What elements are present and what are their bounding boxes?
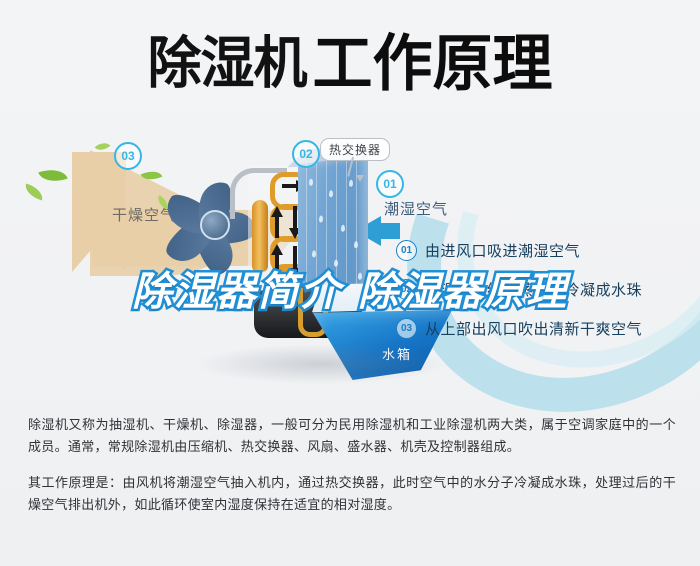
accumulator-cylinder xyxy=(252,200,268,272)
marker-02: 02 xyxy=(292,140,320,168)
infographic-page: 除湿机 工作原理 干燥空气 xyxy=(0,0,700,566)
callout-tip-icon xyxy=(356,175,364,182)
flow-arrow-stem xyxy=(282,184,296,188)
steps-list: 01 由进风口吸进潮湿空气 02 潮湿空气经过蒸发器冷凝成水珠 03 从上部出风… xyxy=(396,240,696,357)
dehumidifier-unit: 水箱 xyxy=(246,142,386,317)
paragraph-1: 除湿机又称为抽湿机、干燥机、除湿器，一般可分为民用除湿机和工业除湿机两大类，属于… xyxy=(28,414,676,458)
flow-arrow-stem xyxy=(275,216,279,238)
list-item: 01 由进风口吸进潮湿空气 xyxy=(396,240,696,261)
leaf-icon xyxy=(23,183,46,200)
paragraph-2: 其工作原理是：由风机将潮湿空气抽入机内，通过热交换器，此时空气中的水分子冷凝成水… xyxy=(28,472,676,516)
title-secondary: 工作原理 xyxy=(313,33,553,94)
step-number: 03 xyxy=(396,318,417,339)
step-text: 从上部出风口吹出清新干爽空气 xyxy=(425,318,642,339)
title-primary: 除湿机 xyxy=(148,36,307,92)
flow-arrow-stem xyxy=(293,246,297,268)
flow-arrow-stem xyxy=(293,206,297,228)
list-item: 02 潮湿空气经过蒸发器冷凝成水珠 xyxy=(396,279,696,300)
step-text: 由进风口吸进潮湿空气 xyxy=(425,240,580,261)
list-item: 03 从上部出风口吹出清新干爽空气 xyxy=(396,318,696,339)
marker-01: 01 xyxy=(376,170,404,198)
body-copy: 除湿机又称为抽湿机、干燥机、除湿器，一般可分为民用除湿机和工业除湿机两大类，属于… xyxy=(28,414,676,524)
marker-03: 03 xyxy=(114,142,142,170)
humid-air-label: 潮湿空气 xyxy=(384,198,448,219)
flow-arrow-up-icon xyxy=(271,206,283,217)
heat-exchanger-callout: 热交换器 xyxy=(320,138,390,161)
flow-arrow-up-icon xyxy=(271,244,283,255)
step-text: 潮湿空气经过蒸发器冷凝成水珠 xyxy=(425,279,642,300)
step-number: 02 xyxy=(396,279,417,300)
step-number: 01 xyxy=(396,240,417,261)
fan-hub xyxy=(200,210,230,240)
flow-arrow-stem xyxy=(275,254,279,276)
